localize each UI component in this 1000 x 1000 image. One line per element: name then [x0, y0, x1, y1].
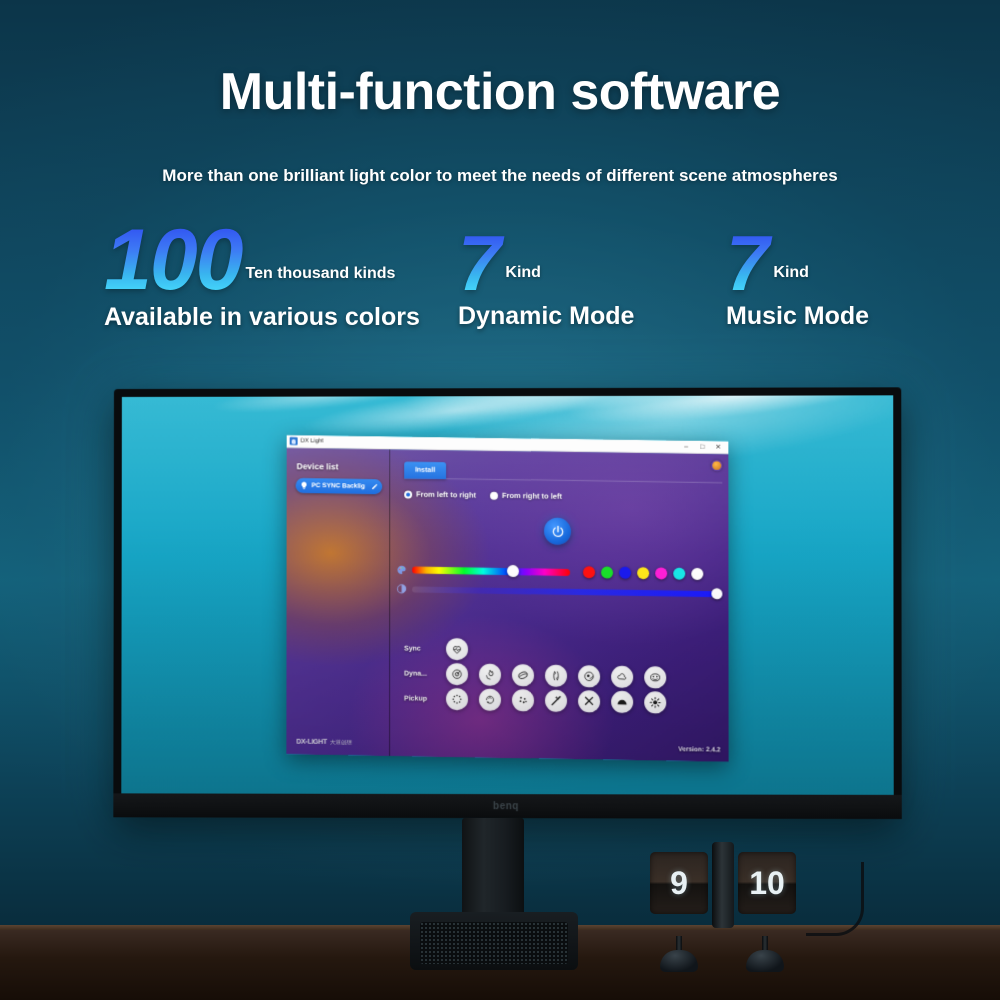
stat-unit: Kind [773, 264, 809, 298]
clock-foot-right [746, 936, 784, 972]
wave-icon [649, 671, 661, 683]
stat-number: 7 [726, 228, 773, 298]
dx-light-logo: DX-LIGHT 大道创想 [296, 737, 351, 746]
stat-block-colors: 100 Ten thousand kinds Available in vari… [104, 222, 420, 332]
mode-row-pickup: Pickup [404, 687, 724, 714]
swatch-magenta[interactable] [655, 567, 667, 579]
mode-swirl-icon[interactable] [578, 665, 600, 687]
mode-row-sync: Sync [404, 637, 724, 664]
swirl-icon [583, 670, 595, 682]
scissors-icon [583, 695, 595, 707]
heartbeat-icon [451, 643, 463, 655]
radio-option-right-to-left[interactable]: From right to left [490, 491, 562, 501]
radio-label: From right to left [502, 491, 562, 501]
mode-dots-icon[interactable] [512, 689, 534, 711]
desk-speaker [420, 922, 568, 964]
mode-leaf-icon[interactable] [512, 664, 534, 686]
mode-burst-icon[interactable] [644, 691, 666, 713]
stat-top: 7 Kind [726, 228, 869, 298]
mode-heartbeat-icon[interactable] [446, 638, 468, 660]
ribbon-icon [550, 670, 562, 682]
swatch-red[interactable] [583, 566, 595, 578]
swatch-yellow[interactable] [637, 567, 649, 579]
stats-group: 100 Ten thousand kinds Available in vari… [0, 222, 1000, 352]
stat-number: 100 [104, 222, 246, 299]
color-hue-slider-row [396, 563, 724, 580]
swatch-green[interactable] [601, 566, 613, 578]
mode-row-label: Dyna... [404, 670, 446, 678]
monitor-bottom-bezel: BenQ [113, 793, 902, 819]
monitor: DX Light – □ ✕ Device list PC SYNC Backl… [113, 387, 902, 819]
mode-ribbon-icon[interactable] [545, 665, 567, 687]
flame-icon [484, 669, 496, 681]
mode-row-label: Pickup [404, 695, 446, 703]
tab-install[interactable]: Install [404, 462, 446, 480]
mode-icon-group [446, 688, 666, 714]
mode-row-label: Sync [404, 645, 446, 653]
clock-foot-left [660, 936, 698, 972]
mode-sparkle-ring-icon[interactable] [446, 688, 468, 710]
mode-flame-icon[interactable] [479, 664, 501, 686]
stat-unit: Ten thousand kinds [246, 265, 396, 299]
stat-block-dynamic-mode: 7 Kind Dynamic Mode [458, 228, 634, 331]
brightness-slider-handle[interactable] [711, 588, 722, 599]
clock-hour-digit: 9 [670, 865, 688, 902]
stat-number: 7 [458, 228, 505, 298]
radio-option-left-to-right[interactable]: From left to right [404, 490, 476, 500]
swatch-white[interactable] [691, 568, 703, 580]
swatch-blue[interactable] [619, 567, 631, 579]
color-swatch-row [583, 566, 703, 580]
monitor-stand-neck [462, 818, 524, 916]
mode-scissors-icon[interactable] [578, 690, 600, 712]
minimize-button[interactable]: – [678, 440, 694, 452]
tab-bar: Install [404, 462, 722, 484]
page-title: Multi-function software [0, 62, 1000, 122]
clock-foot-dome [746, 950, 784, 972]
sparkle-ring-icon [451, 693, 463, 705]
radio-label: From left to right [416, 490, 476, 500]
benq-logo: BenQ [493, 801, 519, 812]
clock-minute-panel: 10 [738, 852, 796, 914]
stat-top: 7 Kind [458, 228, 634, 298]
magic-wand-icon [550, 695, 562, 707]
mode-arch-icon[interactable] [611, 691, 633, 713]
mode-target-icon[interactable] [446, 663, 468, 685]
page-subtitle: More than one brilliant light color to m… [0, 166, 1000, 186]
close-button[interactable]: ✕ [710, 441, 726, 453]
cloud-icon [616, 671, 628, 683]
app-content: Install From left to right From right to… [390, 449, 729, 761]
hue-slider-handle[interactable] [507, 565, 519, 577]
stat-top: 100 Ten thousand kinds [104, 222, 420, 299]
direction-radio-group: From left to right From right to left [404, 490, 562, 501]
power-icon [551, 524, 565, 538]
bulb-icon [300, 481, 309, 490]
swatch-cyan[interactable] [673, 568, 685, 580]
hue-slider-track[interactable] [412, 566, 570, 575]
mode-icon-group [446, 663, 666, 689]
brightness-slider-row [396, 583, 724, 599]
stat-block-music-mode: 7 Kind Music Mode [726, 228, 869, 331]
brightness-icon [396, 583, 407, 594]
window-title: DX Light [301, 438, 679, 449]
version-label: Version: 2.4.2 [678, 746, 720, 754]
edit-icon[interactable] [371, 483, 378, 490]
brightness-slider-track[interactable] [412, 586, 722, 597]
radio-dot-selected[interactable] [404, 490, 412, 498]
power-cable [806, 862, 864, 936]
clock-foot-dome [660, 950, 698, 972]
clock-spine [712, 842, 734, 928]
target-icon [451, 668, 463, 680]
arch-icon [616, 696, 628, 708]
stat-unit: Kind [505, 264, 541, 298]
maximize-button[interactable]: □ [694, 441, 710, 453]
logo-wordmark: DX-LIGHT [296, 738, 327, 746]
mode-wave-icon[interactable] [644, 666, 666, 688]
bubble-icon [484, 694, 496, 706]
palette-icon [396, 564, 407, 575]
device-sidebar: Device list PC SYNC Backlig DX-LIGHT [286, 448, 390, 756]
dots-icon [517, 694, 529, 706]
power-button[interactable] [544, 518, 571, 545]
mode-row-dynamic: Dyna... [404, 662, 724, 689]
device-list-item[interactable]: PC SYNC Backlig [296, 478, 383, 494]
mode-cloud-icon[interactable] [611, 666, 633, 688]
logo-chinese-name: 大道创想 [330, 738, 352, 746]
device-list-heading: Device list [297, 461, 390, 472]
clock-hour-panel: 9 [650, 852, 708, 914]
mode-magic-wand-icon[interactable] [545, 690, 567, 712]
monitor-screen: DX Light – □ ✕ Device list PC SYNC Backl… [121, 395, 893, 797]
flip-clock: 9 10 [650, 838, 796, 938]
burst-icon [649, 696, 661, 708]
app-body: Device list PC SYNC Backlig DX-LIGHT [286, 448, 728, 762]
mode-bubble-icon[interactable] [479, 689, 501, 711]
dx-light-app-window[interactable]: DX Light – □ ✕ Device list PC SYNC Backl… [286, 435, 728, 762]
leaf-icon [517, 669, 529, 681]
device-name-label: PC SYNC Backlig [312, 482, 372, 490]
clock-minute-digit: 10 [749, 865, 785, 902]
radio-dot[interactable] [490, 491, 498, 499]
mode-icon-group [446, 638, 468, 660]
app-icon [290, 437, 298, 445]
